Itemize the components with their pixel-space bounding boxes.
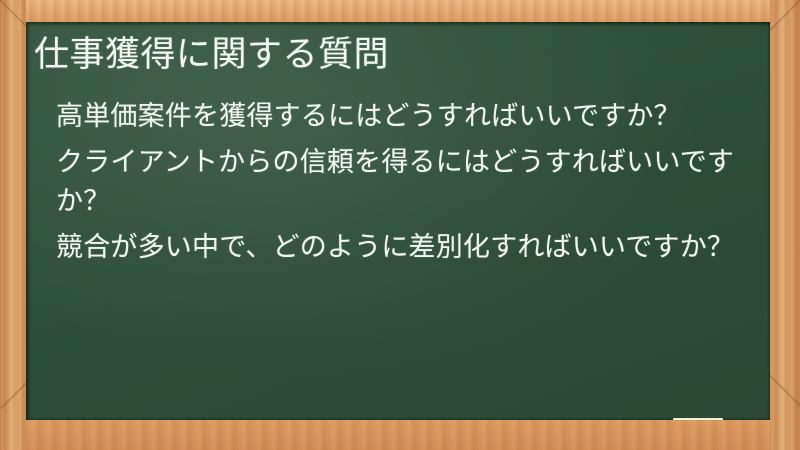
list-item: 高単価案件を獲得するにはどうすればいいですか？ [56, 98, 744, 136]
chalkboard-surface: 仕事獲得に関する質問 高単価案件を獲得するにはどうすればいいですか？ クライアン… [26, 22, 770, 420]
slide-title: 仕事獲得に関する質問 [34, 34, 734, 78]
question-list: 高単価案件を獲得するにはどうすればいいですか？ クライアントからの信頼を得るには… [56, 98, 756, 275]
frame-rail-left [0, 0, 26, 450]
list-item: クライアントからの信頼を得るにはどうすればいいですか？ [56, 144, 744, 221]
chalkboard-slide: 仕事獲得に関する質問 高単価案件を獲得するにはどうすればいいですか？ クライアン… [0, 0, 800, 450]
list-item: 競合が多い中で、どのように差別化すればいいですか？ [56, 229, 744, 267]
frame-rail-right [770, 0, 800, 450]
frame-rail-top [0, 0, 800, 22]
chalk-stick [673, 418, 723, 420]
frame-rail-bottom [0, 420, 800, 450]
